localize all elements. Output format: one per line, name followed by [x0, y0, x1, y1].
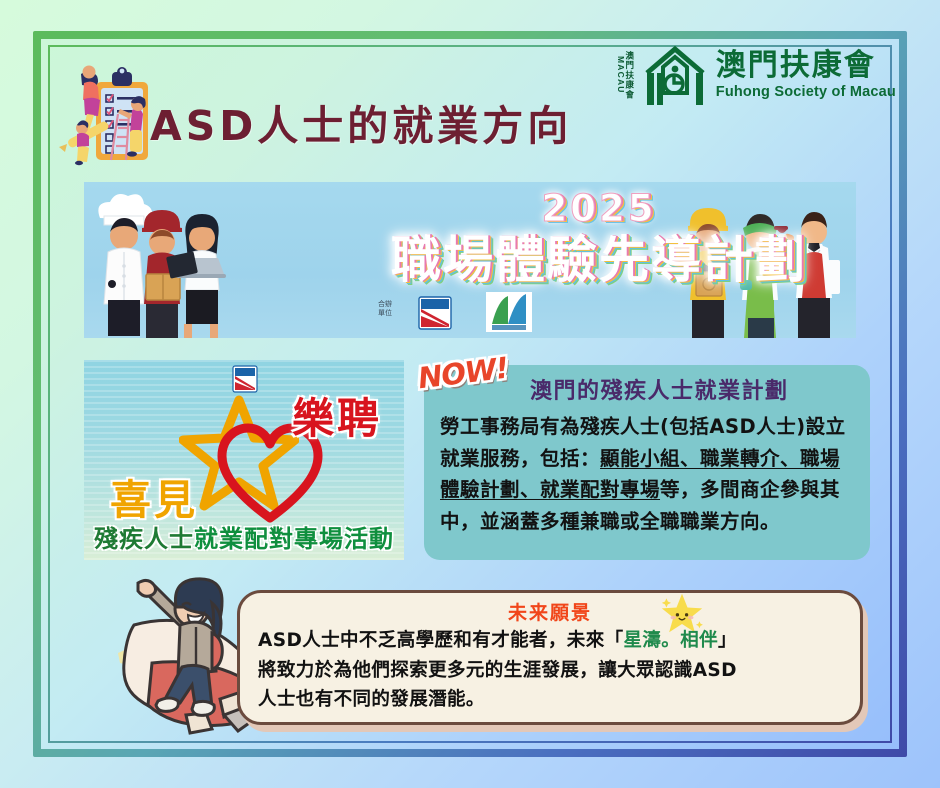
- banner-main-title: 職場體驗先導計劃: [384, 235, 814, 286]
- logo-chinese-name: 澳門扶康會: [716, 51, 896, 81]
- vision-line-2: 將致力於為他們探索更多元的生涯發展，讓大眾認識ASD: [258, 656, 846, 686]
- info-line-3-post: 等，多間商企參與其: [660, 478, 840, 501]
- logo-english-name: Fuhong Society of Macau: [716, 84, 896, 100]
- info-line-3-underline: 體驗計劃、就業配對專場: [440, 478, 660, 501]
- info-line-1: 勞工事務局有為殘疾人士(包括ASD人士)設立: [440, 411, 858, 443]
- poster-lepin-text: 樂聘: [292, 385, 382, 446]
- labour-affairs-bureau-logo: [232, 365, 258, 393]
- info-line-4: 中，並涵蓋多種兼職或全職職業方向。: [440, 506, 858, 538]
- social-welfare-bureau-logo: [486, 292, 532, 332]
- info-box-body: 勞工事務局有為殘疾人士(包括ASD人士)設立 就業服務，包括：顯能小組、職業轉介…: [440, 411, 858, 537]
- info-line-2-pre: 就業服務，包括：: [440, 447, 600, 470]
- poster-subtitle-emphasis: 就業配對專場活動: [194, 525, 394, 553]
- employment-program-info-box: NOW! 澳門的殘疾人士就業計劃 勞工事務局有為殘疾人士(包括ASD人士)設立 …: [424, 365, 870, 560]
- poster-subtitle-normal: 殘疾人士: [94, 525, 194, 553]
- vision-line-1-post: 」: [718, 630, 737, 651]
- info-box-heading: 澳門的殘疾人士就業計劃: [530, 373, 789, 405]
- labour-affairs-bureau-logo: [418, 296, 452, 330]
- vision-line-1-highlight: 星濤。相伴: [624, 630, 719, 651]
- job-fair-poster-card: 喜見 樂聘 殘疾人士就業配對專場活動: [84, 360, 404, 560]
- banner-left-workers-illustration: [90, 188, 250, 338]
- info-line-3: 體驗計劃、就業配對專場等，多間商企參與其: [440, 474, 858, 506]
- coorganizer-label: 合辦單位: [378, 300, 392, 318]
- banner-year: 2025: [384, 190, 814, 227]
- poster-canvas: ASD人士的就業方向 澳門扶康會 MACAU 澳門扶康會 Fuhong Soci…: [0, 0, 940, 788]
- future-vision-box: 未来願景 ASD人士中不乏高學歷和有才能者，未來「星濤。相伴」 將致力於為他們探…: [237, 590, 863, 725]
- info-line-2-underline: 顯能小組、職業轉介、職場: [600, 447, 840, 470]
- organization-logo: 澳門扶康會 MACAU 澳門扶康會 Fuhong Society of Maca…: [616, 42, 896, 108]
- vision-line-3: 人士也有不同的發展潛能。: [258, 685, 846, 715]
- house-wheelchair-logo-icon: [643, 43, 707, 107]
- poster-xijian-text: 喜見: [110, 466, 198, 526]
- poster-subtitle: 殘疾人士就業配對專場活動: [84, 519, 404, 554]
- now-badge-label: NOW!: [416, 351, 510, 396]
- program-banner: 2025 職場體驗先導計劃: [84, 182, 856, 338]
- vision-heading: 未来願景: [240, 598, 860, 625]
- vision-line-1-pre: ASD人士中不乏高學歷和有才能者，未來「: [258, 630, 624, 651]
- banner-title-wrapper: 2025 職場體驗先導計劃: [384, 190, 814, 286]
- logo-macau-vertical-text: 澳門扶康會 MACAU: [616, 42, 634, 108]
- page-title: ASD人士的就業方向: [150, 92, 572, 152]
- vision-body: ASD人士中不乏高學歷和有才能者，未來「星濤。相伴」 將致力於為他們探索更多元的…: [258, 626, 846, 715]
- vision-line-1: ASD人士中不乏高學歷和有才能者，未來「星濤。相伴」: [258, 626, 846, 656]
- info-line-2: 就業服務，包括：顯能小組、職業轉介、職場: [440, 443, 858, 475]
